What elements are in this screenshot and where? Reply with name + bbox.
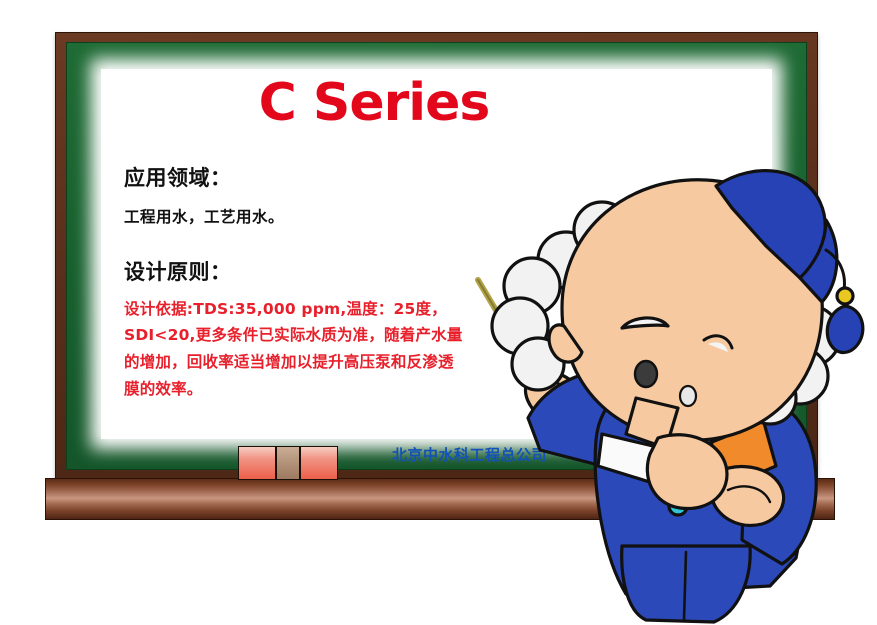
- application-field-heading: 应用领域：: [124, 165, 494, 191]
- design-principle-body: 设计依据:TDS:35,000 ppm,温度：25度， SDI<20,更多条件已…: [124, 296, 494, 403]
- cartoon-professor: [470, 150, 877, 625]
- chalk-red-left: [238, 446, 276, 480]
- chalk-tan-middle: [276, 446, 300, 480]
- chalk-red-right: [300, 446, 338, 480]
- design-principle-line-3: 的增加，回收率适当增加以提升高压泵和反渗透: [124, 349, 494, 376]
- slide-canvas: C Series 应用领域： 工程用水，工艺用水。 设计原则： 设计依据:TDS…: [0, 0, 877, 625]
- design-principle-heading: 设计原则：: [124, 259, 494, 285]
- design-principle-line-4: 膜的效率。: [124, 376, 494, 403]
- chalk-tray: [238, 446, 338, 480]
- design-principle-line-1: 设计依据:TDS:35,000 ppm,温度：25度，: [124, 296, 494, 323]
- content-block: 应用领域： 工程用水，工艺用水。 设计原则： 设计依据:TDS:35,000 p…: [124, 165, 494, 402]
- application-field-body: 工程用水，工艺用水。: [124, 207, 494, 227]
- page-title: C Series: [94, 76, 654, 131]
- design-principle-line-2: SDI<20,更多条件已实际水质为准，随着产水量: [124, 322, 494, 349]
